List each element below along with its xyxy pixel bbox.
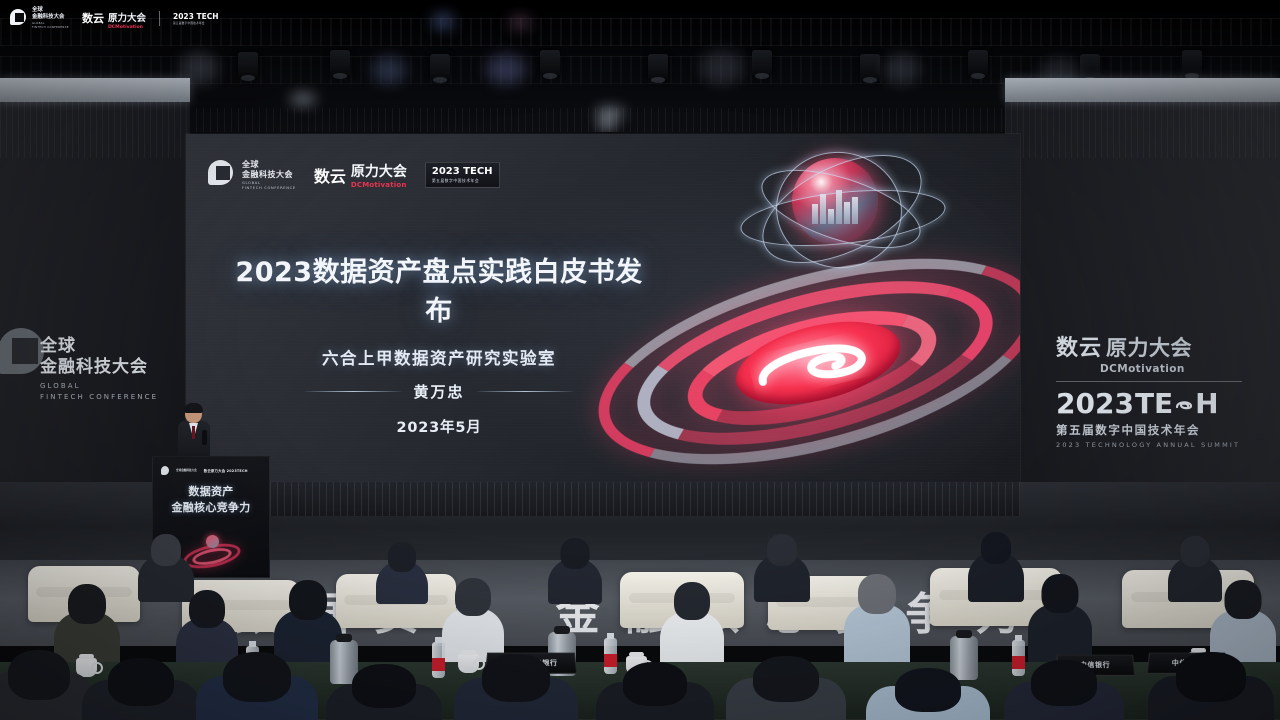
global-fintech-mark-icon [161,466,169,475]
swirl-icon [1174,394,1194,414]
stage-light [860,54,880,80]
stage-light [540,50,560,76]
right-sign-cn-a: 数云 [1056,330,1102,362]
podium-logo-gfc: 全球金融科技大会 [176,469,197,472]
screen-gfc-en2: FINTECH CONFERENCE [242,186,296,190]
stage-light [968,50,988,76]
front-row-person [726,656,846,720]
audience-person [844,574,910,672]
screen-gfc-en1: GLOBAL [242,181,296,185]
audience-person [754,534,810,602]
left-wall-cn-line1: 全球 [40,336,158,357]
audience-person [968,532,1024,602]
right-sign-year-tech: 2023 TE H [1056,387,1264,420]
screen-dc-cn-b: 原力大会 [351,164,407,180]
screen-gfc-cn1: 全球 [242,160,296,170]
screen-date: 2023年5月 [224,416,654,437]
screen-speaker-row: 黄万忠 [224,381,654,402]
wall-light-strip [0,78,190,102]
light-glow [290,94,316,104]
podium-logo-dc: 数云原力大会 2023TECH [204,468,248,473]
left-wall-cn-line2: 金融科技大会 [40,357,158,378]
right-sign-en-sub: 2023 TECHNOLOGY ANNUAL SUMMIT [1056,441,1264,449]
audience-area: 中国进出口银行 中信银行 中信银行 [0,512,1280,720]
speaker-rule-right [477,391,573,393]
podium-title-line1: 数据资产 [153,484,269,500]
watermark-dcmotivation-logo: 数云 原力大会 DCMotivation [82,6,146,30]
audience-person [376,542,428,604]
front-row-person [454,654,578,720]
front-row-person [1004,660,1124,720]
front-row-person [82,658,200,720]
right-sign-tech-right: H [1195,387,1218,420]
watermark-dc-en: DCMotivation [108,25,146,30]
podium-logo-bar: 全球金融科技大会 数云原力大会 2023TECH [161,466,248,475]
screen-dcmotivation-logo: 数云 原力大会 DCMotivation [314,161,407,189]
wall-louver-texture [0,100,190,158]
watermark-divider [159,11,160,26]
broadcast-frame: 全球 金融科技大会 GLOBAL FINTECH CONFERENCE 数云 原… [0,0,1280,720]
stage-light [238,52,258,78]
broadcast-watermark: 全球 金融科技大会 GLOBAL FINTECH CONFERENCE 数云 原… [10,6,219,30]
front-row-person [0,650,94,720]
wall-light-strip [1005,78,1280,102]
watermark-gfc-cn1: 全球 [32,7,69,14]
left-wall-logo-text: 全球 金融科技大会 GLOBAL FINTECH CONFERENCE [40,336,158,401]
right-sign-year: 2023 [1056,387,1134,420]
watermark-badge-sub: 第五届数字中国技术年会 [173,21,219,25]
screen-subtitle: 六合上甲数据资产研究实验室 [224,345,654,369]
stage-light [648,54,668,80]
front-row-person [596,662,714,720]
stage-light [430,54,450,80]
stage-light [1182,50,1202,76]
screen-speaker-name: 黄万忠 [413,381,464,402]
left-wall-en-line2: FINTECH CONFERENCE [40,393,158,401]
watermark-gfc-cn2: 金融科技大会 [32,14,69,21]
global-fintech-mark-icon [208,160,235,190]
screen-tech-badge: 2023 TECH 第五届数字中国技术年会 [425,162,500,188]
screen-dc-en: DCMotivation [351,181,407,189]
global-fintech-mark-icon [10,9,27,28]
stage-light [1080,54,1100,80]
front-row-person [196,652,318,720]
front-row-person [326,664,442,720]
front-row-person [1148,652,1274,720]
speaker-rule-left [305,391,401,393]
watermark-gfc-logo: 全球 金融科技大会 GLOBAL FINTECH CONFERENCE [10,7,69,29]
stage-light [330,50,350,76]
right-sign-tech-left: TE [1135,387,1173,420]
right-wall-signage: 数云 原力大会 DCMotivation 2023 TE H 第五届数字中国技术… [1056,330,1264,449]
screen-badge-sub: 第五届数字中国技术年会 [432,178,493,184]
watermark-tech-badge: 2023 TECH 第五届数字中国技术年会 [173,12,219,25]
wall-louver-texture [1005,100,1280,158]
watermark-badge-year: 2023 TECH [173,12,219,21]
watermark-dc-cn-b: 原力大会 [108,13,146,24]
left-wall-en-line1: GLOBAL [40,382,158,390]
right-sign-divider [1056,381,1242,382]
stage-deck-louver [186,482,1020,516]
stage-led-screen: 全球 金融科技大会 GLOBAL FINTECH CONFERENCE 数云 原… [186,134,1020,482]
watermark-gfc-en1: GLOBAL [32,22,69,25]
screen-badge-year: 2023 TECH [432,166,493,177]
screen-logo-bar: 全球 金融科技大会 GLOBAL FINTECH CONFERENCE 数云 原… [208,160,500,190]
screen-main-title: 2023数据资产盘点实践白皮书发布 [224,250,654,328]
audience-person [548,538,602,604]
stage-light [752,50,772,76]
right-sign-en: DCMotivation [1100,363,1264,375]
front-row-person [866,668,990,720]
watermark-dc-cn-a: 数云 [82,10,104,26]
vortex-graphic [616,144,1016,482]
right-sign-cn-sub: 第五届数字中国技术年会 [1056,422,1264,438]
screen-title-block: 2023数据资产盘点实践白皮书发布 六合上甲数据资产研究实验室 黄万忠 2023… [224,250,654,437]
right-sign-cn-b: 原力大会 [1106,332,1192,362]
speaker-person [176,404,212,462]
screen-dc-cn-a: 数云 [314,163,346,187]
screen-gfc-logo: 全球 金融科技大会 GLOBAL FINTECH CONFERENCE [208,160,296,190]
screen-gfc-cn2: 金融科技大会 [242,170,296,180]
watermark-gfc-en2: FINTECH CONFERENCE [32,26,69,29]
microphone-icon [202,430,207,445]
